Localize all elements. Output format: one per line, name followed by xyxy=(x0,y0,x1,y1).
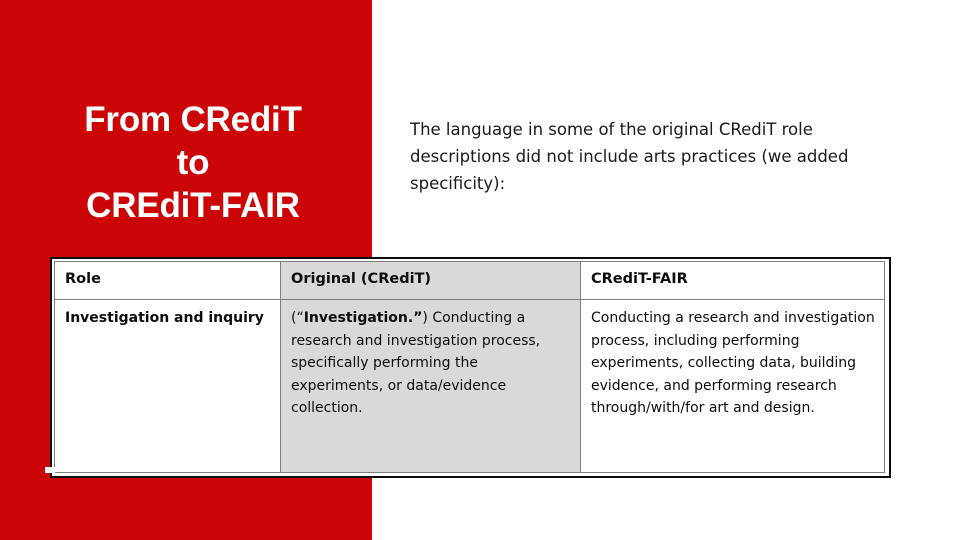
column-header-original: Original (CRediT) xyxy=(281,262,581,300)
slide-canvas: From CRediT to CREdiT-FAIR The language … xyxy=(0,0,960,540)
column-header-role: Role xyxy=(55,262,281,300)
selection-handle-tick xyxy=(45,467,55,473)
intro-paragraph: The language in some of the original CRe… xyxy=(410,116,878,197)
original-bold-term: Investigation.” xyxy=(304,310,423,326)
cell-credit-fair-description: Conducting a research and investigation … xyxy=(581,300,885,473)
cell-role: Investigation and inquiry xyxy=(55,300,281,473)
cell-original-description: (“Investigation.”) Conducting a research… xyxy=(281,300,581,473)
table-header-row: Role Original (CRediT) CRediT-FAIR xyxy=(55,262,885,300)
page-title: From CRediT to CREdiT-FAIR xyxy=(48,98,338,227)
table-row: Investigation and inquiry (“Investigatio… xyxy=(55,300,885,473)
original-prefix: (“ xyxy=(291,310,304,326)
credit-fair-table: Role Original (CRediT) CRediT-FAIR Inves… xyxy=(54,261,885,473)
column-header-credit-fair: CRediT-FAIR xyxy=(581,262,885,300)
